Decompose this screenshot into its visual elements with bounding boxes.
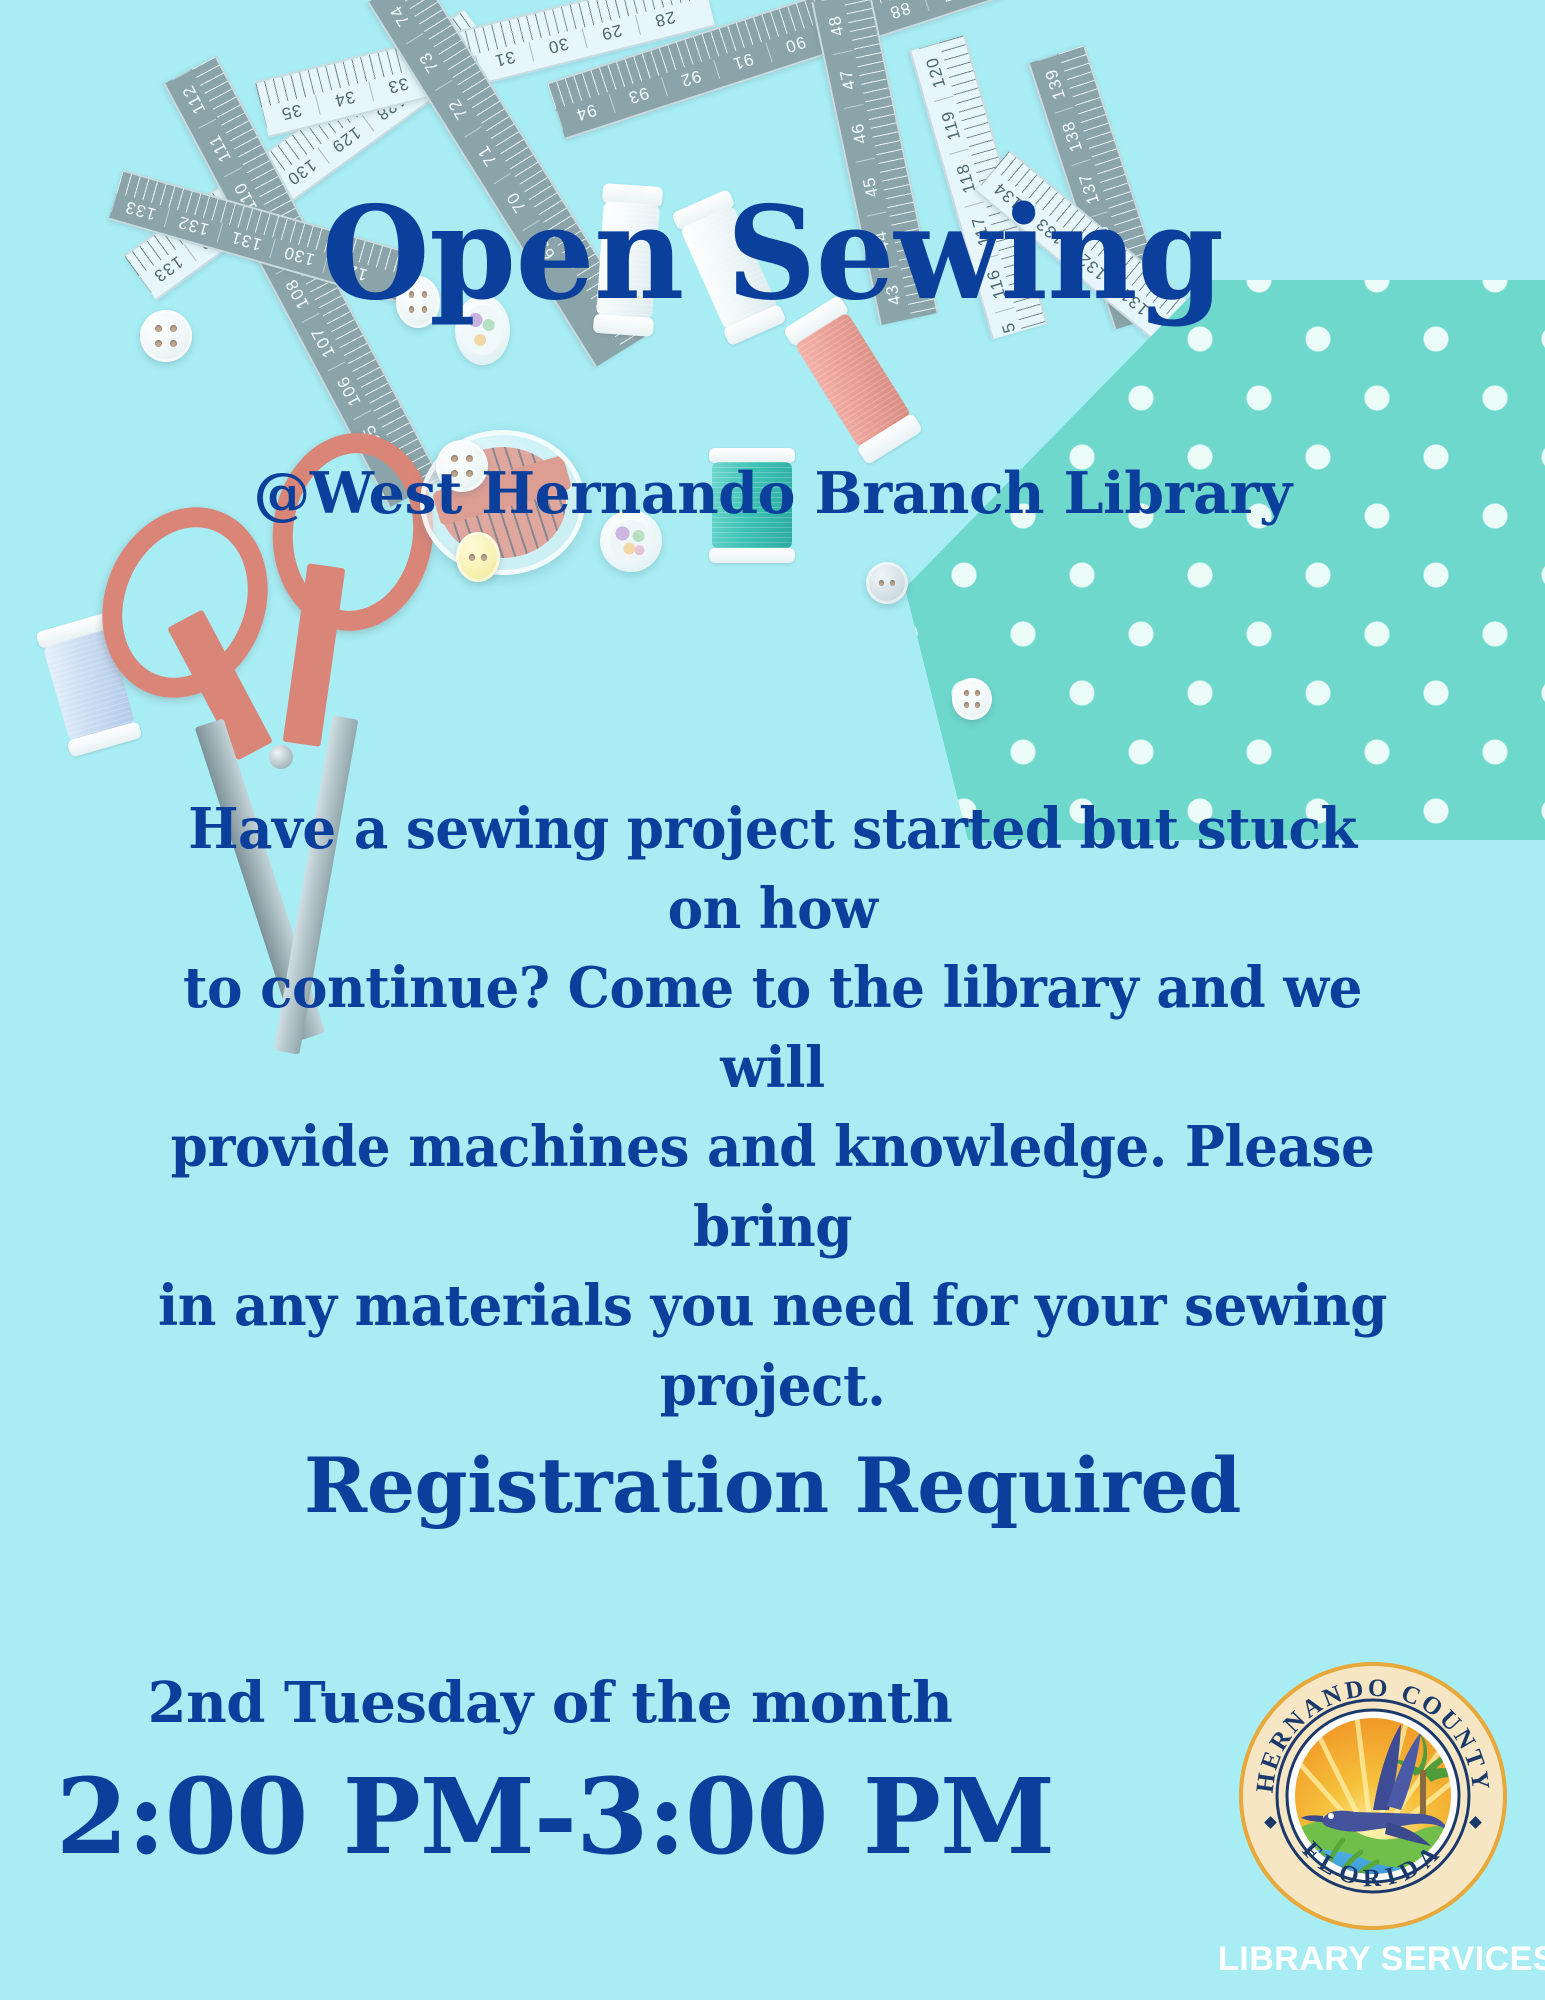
- description-line: in any materials you need for your sewin…: [143, 1267, 1402, 1347]
- location-subtitle: @West Hernando Branch Library: [0, 465, 1545, 522]
- registration-notice: Registration Required: [0, 1448, 1545, 1524]
- description-line: project.: [143, 1347, 1402, 1427]
- library-services-label: LIBRARY SERVICES: [1218, 1940, 1528, 1979]
- hernando-county-seal-icon: HERNANDO COUNTY FLORIDA: [1237, 1660, 1509, 1932]
- poster-canvas: 133132131130129128127 112111110109108107…: [0, 0, 1545, 2000]
- schedule-time: 2:00 PM-3:00 PM: [0, 1765, 1110, 1869]
- schedule-day: 2nd Tuesday of the month: [0, 1675, 1100, 1731]
- library-logo: HERNANDO COUNTY FLORIDA LIBRARY SERVICES: [1218, 1660, 1528, 1979]
- description-line: to continue? Come to the library and we …: [143, 949, 1402, 1108]
- page-title: Open Sewing: [23, 190, 1522, 318]
- description-paragraph: Have a sewing project started but stuck …: [143, 790, 1402, 1426]
- description-line: Have a sewing project started but stuck …: [143, 790, 1402, 949]
- description-line: provide machines and knowledge. Please b…: [143, 1108, 1402, 1267]
